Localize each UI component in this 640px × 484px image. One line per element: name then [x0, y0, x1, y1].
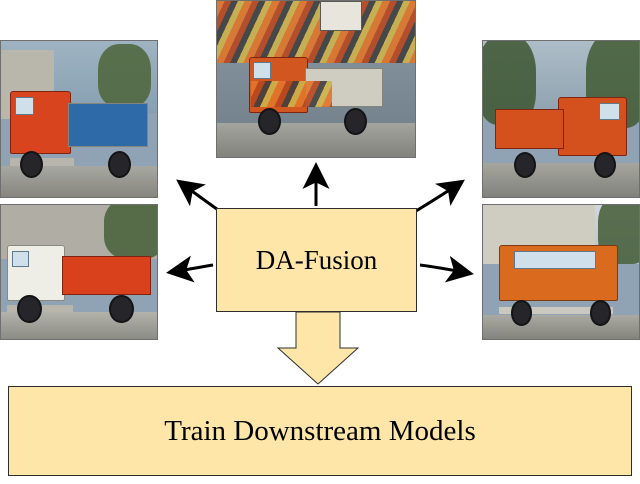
train-downstream-models-label: Train Downstream Models — [164, 415, 475, 448]
sign — [320, 1, 362, 31]
truck-wheel-front — [514, 152, 536, 178]
graffiti-wall — [217, 1, 415, 63]
augmented-image-top-left — [0, 40, 158, 198]
truck-cab — [10, 91, 70, 154]
truck-wheel-front — [258, 108, 281, 135]
truck-wheel-front — [511, 300, 532, 325]
diagram-canvas: DA-Fusion Train Downstream Models — [0, 0, 640, 484]
truck-wheel-front — [20, 151, 43, 178]
truck-windshield — [253, 62, 271, 78]
truck — [10, 91, 147, 178]
augmented-image-top-right — [482, 40, 640, 198]
truck — [495, 97, 626, 178]
truck-bed — [62, 256, 151, 295]
truck-wheel-front — [17, 295, 41, 323]
truck-cab — [499, 245, 619, 301]
truck-wheel-rear — [594, 152, 616, 178]
truck-cab — [7, 245, 64, 301]
truck-cab — [558, 97, 626, 155]
truck-windshield — [12, 251, 30, 267]
truck-wheel-rear — [590, 300, 611, 325]
augmented-image-top — [216, 0, 416, 158]
truck-wheel-rear — [108, 151, 131, 178]
truck-bed — [68, 103, 148, 147]
train-downstream-models-node[interactable]: Train Downstream Models — [8, 386, 632, 476]
truck-bed — [495, 109, 563, 150]
augmented-image-bottom-left — [0, 204, 158, 340]
truck — [499, 245, 624, 325]
augmented-image-bottom-right — [482, 204, 640, 340]
truck-wheel-rear — [109, 295, 133, 323]
truck-windshield — [514, 251, 596, 269]
truck — [7, 245, 151, 323]
da-fusion-node[interactable]: DA-Fusion — [216, 208, 417, 312]
truck-graffiti — [251, 81, 332, 108]
arrow-to-bottom-left-image — [172, 265, 213, 272]
truck-windshield — [599, 103, 620, 120]
truck — [249, 57, 384, 135]
truck-wheel-rear — [344, 108, 367, 135]
arrow-to-bottom-right-image — [420, 265, 468, 273]
arrow-to-train-downstream-models — [278, 312, 358, 384]
truck-windshield — [15, 97, 34, 115]
da-fusion-label: DA-Fusion — [256, 245, 378, 276]
